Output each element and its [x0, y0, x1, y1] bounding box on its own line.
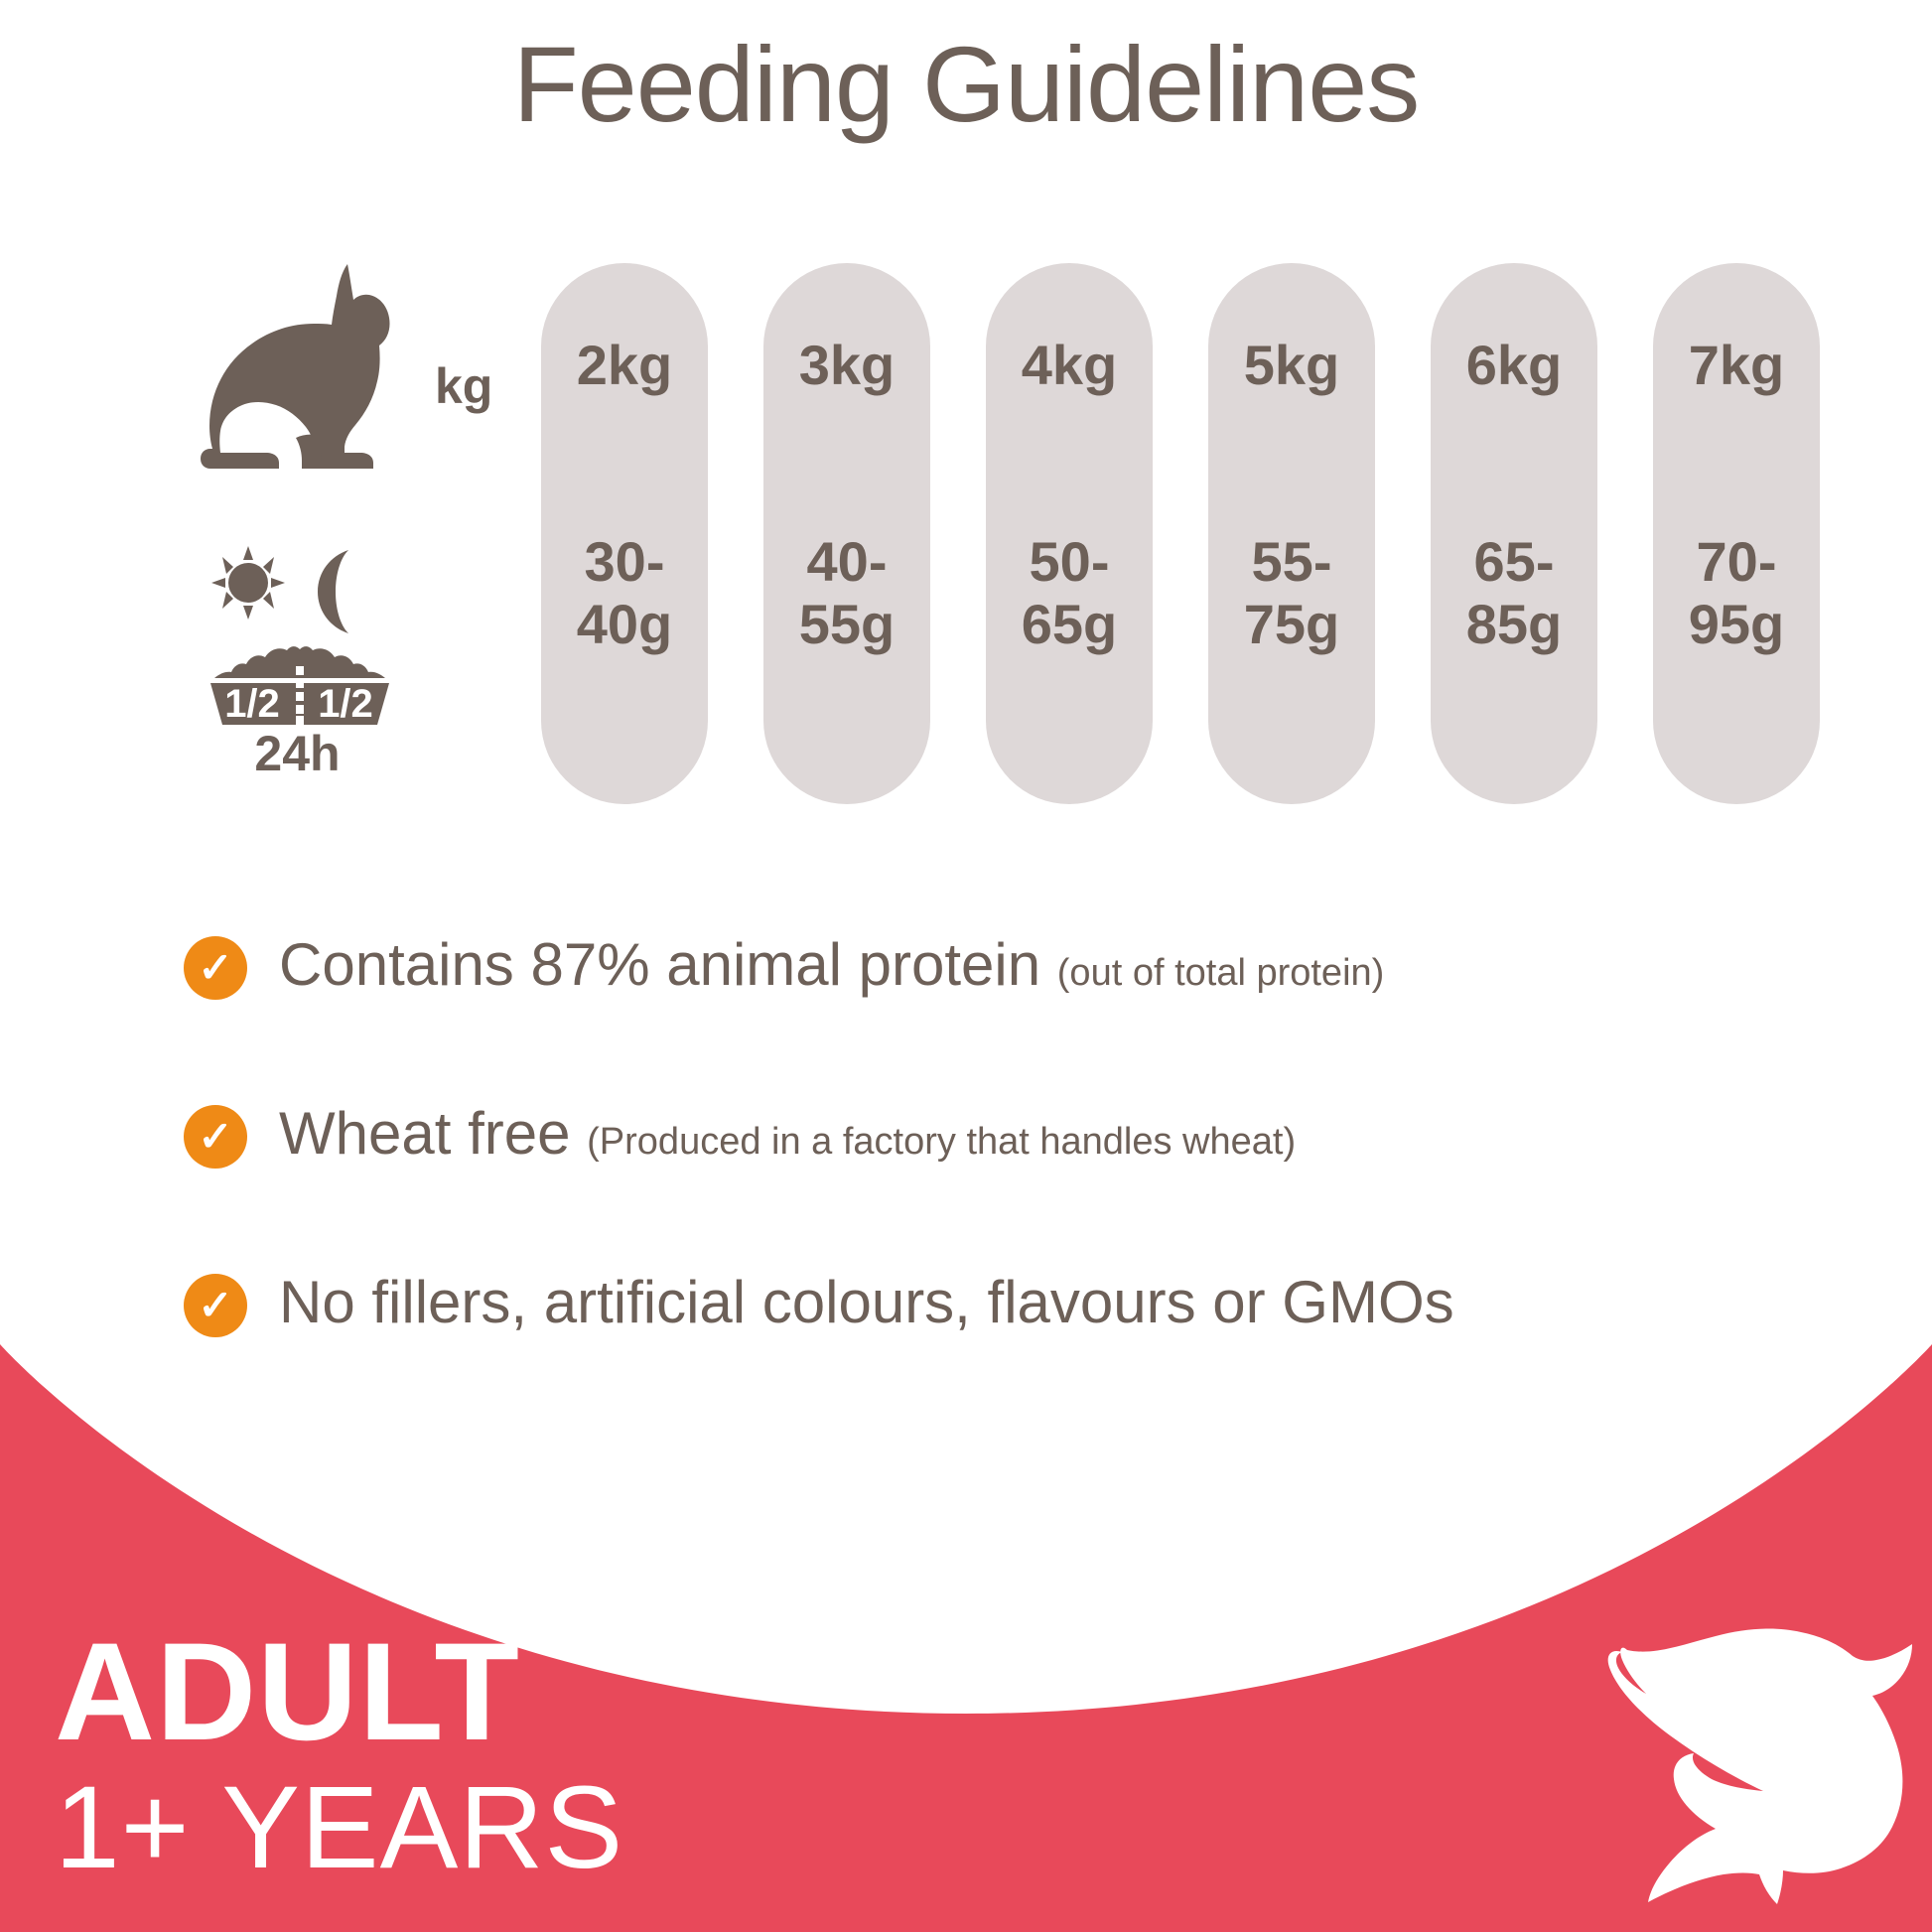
benefit-item-1: ✓ Contains 87% animal protein (out of to…: [184, 928, 1871, 1097]
feeding-weight-2: 3kg: [763, 333, 930, 397]
feeding-weight-5: 6kg: [1431, 333, 1597, 397]
feeding-column-3: 4kg 50- 65g: [986, 263, 1153, 804]
feeding-columns: 2kg 30- 40g 3kg 40- 55g 4kg 50- 65g 5kg …: [541, 263, 1862, 804]
feeding-column-2: 3kg 40- 55g: [763, 263, 930, 804]
feeding-row-labels: kg: [179, 253, 516, 809]
feeding-amount-5-line1: 65-: [1431, 531, 1597, 594]
bowl-portion-left: 1/2: [224, 682, 280, 726]
daily-portion-row-label: 1/2 1/2 24h: [201, 546, 429, 804]
feeding-table: kg: [0, 253, 1932, 809]
feeding-amount-5-line2: 85g: [1431, 594, 1597, 656]
cat-weight-row-label: kg: [179, 258, 516, 491]
feeding-amount-2-line1: 40-: [763, 531, 930, 594]
life-stage-title: ADULT: [55, 1622, 623, 1761]
feeding-amount-2: 40- 55g: [763, 531, 930, 655]
benefit-text-1: Contains 87% animal protein (out of tota…: [279, 930, 1384, 999]
life-stage-text: ADULT 1+ YEARS: [55, 1622, 623, 1890]
benefit-note-1: (out of total protein): [1057, 952, 1385, 994]
feeding-column-4: 5kg 55- 75g: [1208, 263, 1375, 804]
feeding-amount-4-line2: 75g: [1208, 594, 1375, 656]
feeding-column-6: 7kg 70- 95g: [1653, 263, 1820, 804]
feeding-amount-1: 30- 40g: [541, 531, 708, 655]
feeding-amount-3-line2: 65g: [986, 594, 1153, 656]
feeding-amount-1-line2: 40g: [541, 594, 708, 656]
benefit-note-2: (Produced in a factory that handles whea…: [587, 1121, 1296, 1163]
check-icon: ✓: [184, 1105, 247, 1169]
bowl-portion-right: 1/2: [318, 682, 373, 726]
feeding-amount-2-line2: 55g: [763, 594, 930, 656]
benefit-item-2: ✓ Wheat free (Produced in a factory that…: [184, 1097, 1871, 1266]
life-stage-age: 1+ YEARS: [55, 1767, 623, 1890]
feeding-amount-6-line2: 95g: [1653, 594, 1820, 656]
feeding-amount-4: 55- 75g: [1208, 531, 1375, 655]
feeding-weight-6: 7kg: [1653, 333, 1820, 397]
fish-icon: [1596, 1614, 1924, 1912]
feeding-amount-5: 65- 85g: [1431, 531, 1597, 655]
feeding-column-1: 2kg 30- 40g: [541, 263, 708, 804]
feeding-amount-6-line1: 70-: [1653, 531, 1820, 594]
feeding-weight-1: 2kg: [541, 333, 708, 397]
life-stage-banner: ADULT 1+ YEARS: [0, 1316, 1932, 1932]
kg-unit-label: kg: [435, 357, 492, 415]
feeding-column-5: 6kg 65- 85g: [1431, 263, 1597, 804]
cat-silhouette-icon: [199, 258, 427, 486]
sun-icon: [211, 546, 285, 620]
check-icon: ✓: [184, 936, 247, 1000]
feeding-amount-4-line1: 55-: [1208, 531, 1375, 594]
benefit-text-2: Wheat free (Produced in a factory that h…: [279, 1099, 1296, 1168]
feeding-weight-4: 5kg: [1208, 333, 1375, 397]
benefit-main-2: Wheat free: [279, 1100, 587, 1167]
feeding-amount-6: 70- 95g: [1653, 531, 1820, 655]
page-title: Feeding Guidelines: [0, 22, 1932, 146]
feeding-amount-3-line1: 50-: [986, 531, 1153, 594]
moon-icon: [318, 550, 348, 633]
period-24h-label: 24h: [201, 725, 394, 782]
benefit-main-1: Contains 87% animal protein: [279, 931, 1057, 998]
feeding-amount-1-line1: 30-: [541, 531, 708, 594]
feeding-weight-3: 4kg: [986, 333, 1153, 397]
feeding-amount-3: 50- 65g: [986, 531, 1153, 655]
